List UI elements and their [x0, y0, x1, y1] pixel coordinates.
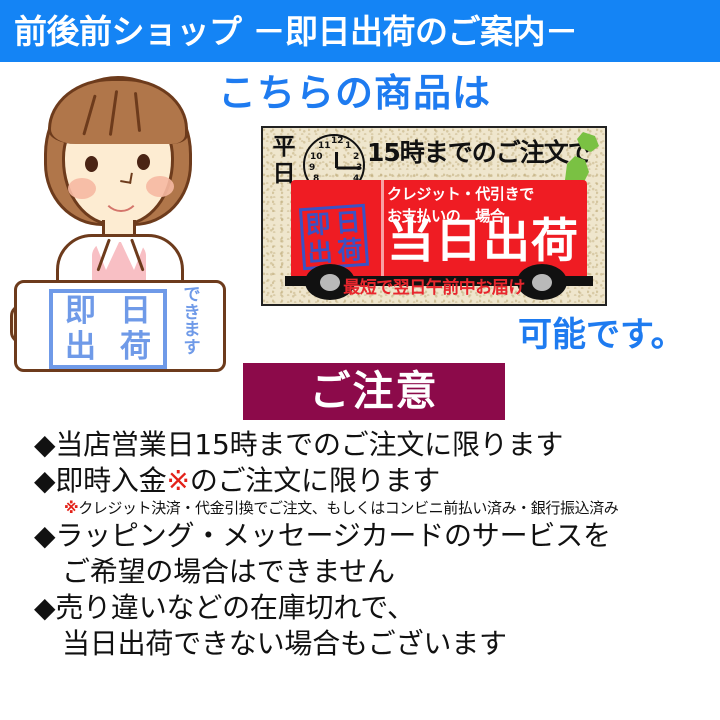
clock-number: 12 [331, 137, 344, 146]
sign-stamp-box: 即 日 出 荷 [49, 289, 167, 369]
headline-text: こちらの商品は [218, 74, 491, 112]
footnote-line: ※クレジット決済・代金引換でご注文、もしくはコンビニ前払い済み・銀行振込済み [34, 499, 694, 519]
note-text-after: のご注文に限ります [190, 464, 440, 497]
same-day-shipping-text: 当日出荷 [387, 218, 579, 265]
promo-banner: 前後前ショップ －即日出荷のご案内－ こちらの商品は 即 日 出 [0, 0, 720, 720]
clock-number: 2 [353, 153, 359, 162]
payment-note-line-1: クレジット・代引きで [387, 184, 585, 206]
nose-icon [120, 171, 133, 184]
sign-stamp-char-2: 日 [120, 296, 151, 327]
note-item: ◆即時入金※のご注文に限ります [34, 463, 694, 499]
clock-number: 1 [345, 142, 351, 151]
shop-header-title: 前後前ショップ －即日出荷のご案内－ [0, 15, 578, 48]
sign-side-text: できます [177, 287, 207, 357]
header-bar: 前後前ショップ －即日出荷のご案内－ [0, 0, 720, 62]
note-text-before: ◆即時入金 [34, 464, 167, 497]
truck-stamp-box: 即 日 出 荷 [299, 204, 369, 270]
truck-stamp-char-2: 日 [335, 209, 362, 236]
held-sign-board: 即 日 出 荷 できます [14, 280, 226, 372]
eye-left-icon [85, 156, 98, 172]
hair-bangs-shape [48, 78, 188, 144]
eye-right-icon [137, 154, 150, 170]
footnote-text: クレジット決済・代金引換でご注文、もしくはコンビニ前払い済み・銀行振込済み [78, 499, 618, 517]
cheek-blush-left [68, 178, 96, 199]
truck-stamp-char-3: 出 [307, 239, 334, 266]
caution-banner: ご注意 [243, 363, 505, 420]
note-item: ◆ラッピング・メッセージカードのサービスを [34, 518, 694, 554]
clock-number: 9 [309, 164, 315, 173]
footnote-kome-icon: ※ [64, 499, 78, 517]
clock-number: 11 [318, 142, 331, 151]
possible-text: 可能です。 [518, 318, 685, 352]
note-item: ご希望の場合はできません [34, 554, 694, 590]
notes-list: ◆当店営業日15時までのご注文に限ります ◆即時入金※のご注文に限ります ※クレ… [34, 427, 694, 661]
truck-cab-divider [381, 180, 384, 282]
caution-label: ご注意 [310, 371, 439, 412]
same-day-shipping-truck-graphic: 平日 12 1 2 3 4 5 6 7 8 9 10 11 15時までのご注文で [261, 126, 607, 306]
note-item: 当日出荷できない場合もございます [34, 626, 694, 662]
delivery-eta-text: 最短で翌日午前中お届け [263, 280, 605, 297]
clock-minute-hand [336, 167, 360, 170]
note-item: ◆売り違いなどの在庫切れで、 [34, 590, 694, 626]
note-item: ◆当店営業日15時までのご注文に限ります [34, 427, 694, 463]
truck-stamp-char-1: 即 [305, 211, 332, 238]
truck-stamp-char-4: 荷 [337, 237, 364, 264]
kome-mark-icon: ※ [167, 464, 190, 497]
sign-stamp-char-3: 出 [65, 332, 96, 363]
shop-staff-illustration: 即 日 出 荷 できます [8, 72, 230, 357]
cheek-blush-right [146, 176, 174, 197]
sign-stamp-char-1: 即 [65, 296, 96, 327]
sign-stamp-char-4: 荷 [120, 332, 151, 363]
clock-number: 10 [310, 153, 323, 162]
